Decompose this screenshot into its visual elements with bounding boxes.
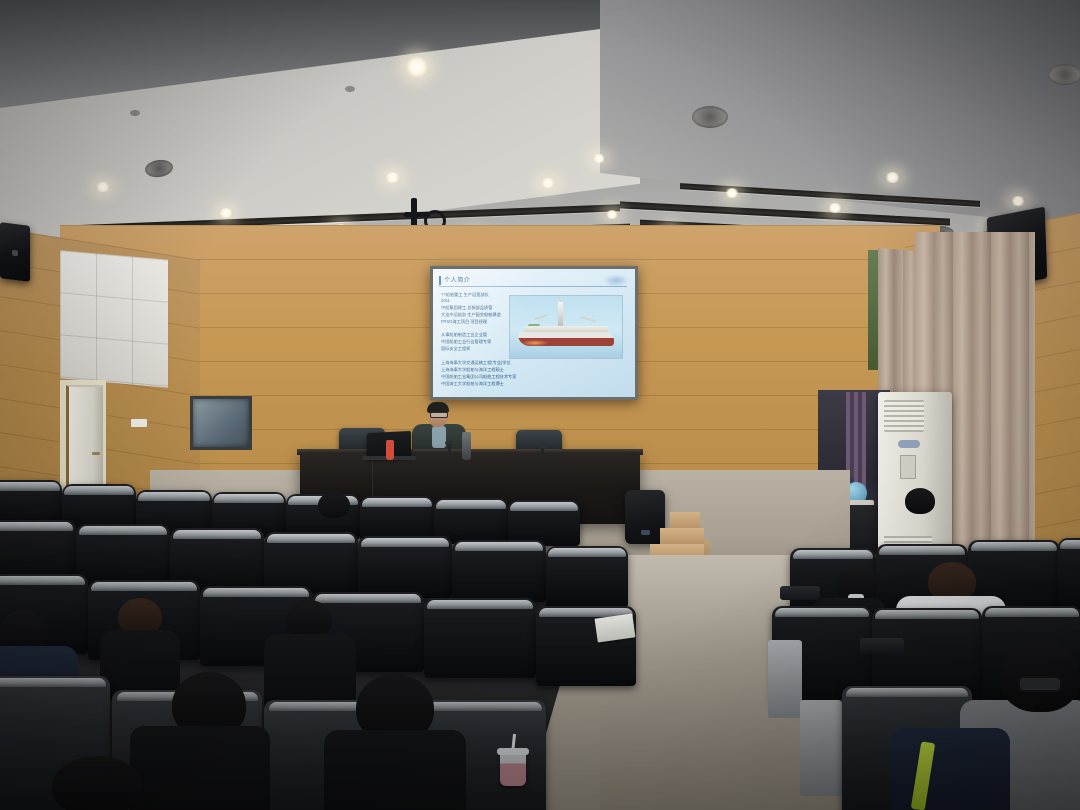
- slide-title-rule: [439, 286, 627, 287]
- eyeglasses-icon: [1018, 676, 1062, 692]
- auditorium-seat-right[interactable]: [1058, 538, 1080, 610]
- presenter-glasses-icon: [430, 412, 448, 418]
- cup-lid: [497, 748, 529, 755]
- slide-text-line: 大连中远船务 生产配交船舶建造: [441, 313, 501, 317]
- slide-text-line: 2011: [441, 299, 450, 303]
- ceiling-downlight: [540, 178, 556, 188]
- auditorium-seat[interactable]: [452, 540, 546, 602]
- lecture-hall-photo: 个人简介 ??船舶重工 生产运营部长 2011 中船集团建工 总装部品质管 大连…: [0, 0, 1080, 810]
- light-switch-plate[interactable]: [131, 419, 147, 427]
- slide-title-accent: [439, 276, 441, 285]
- wall-window: [190, 396, 252, 450]
- slide-text-line: FPSO海工项目 项目经理: [441, 320, 487, 324]
- ceiling-downlight: [592, 154, 606, 163]
- auditorium-seat[interactable]: [358, 536, 452, 598]
- ceiling-downlight: [724, 188, 740, 198]
- audience-body-foreground: [324, 730, 466, 810]
- ship-crane-icon: [534, 314, 548, 320]
- auditorium-seat[interactable]: [76, 524, 170, 586]
- microphone-stand: [541, 448, 544, 460]
- ceiling-downlight: [827, 203, 843, 213]
- auditorium-seat[interactable]: [264, 532, 358, 594]
- slide-title: 个人简介: [444, 275, 470, 284]
- ceiling-downlight: [405, 55, 429, 79]
- slide-text-line: 中国船舶工业行业管理专家: [441, 340, 491, 344]
- slide-text-line: 国际安全工程师: [441, 347, 470, 351]
- auditorium-seat[interactable]: [424, 598, 536, 678]
- presenter-shirt: [432, 426, 446, 448]
- seat-side-panel: [768, 640, 802, 718]
- audience-head: [905, 488, 935, 514]
- slide-text-line: 从事船舶制造工业企业管: [441, 333, 487, 337]
- auditorium-seat[interactable]: [546, 546, 628, 608]
- slide-text-line: ??船舶重工 生产运营部长: [441, 293, 489, 297]
- slide-text-line: 中国海工大学船舶与海洋工程博士: [441, 382, 504, 386]
- ceiling-downlight: [95, 182, 111, 192]
- slide-text-line: 中国船舶工业集团公司船舶工程技术专家: [441, 375, 516, 379]
- auditorium-seat[interactable]: [0, 520, 76, 582]
- wall-speaker-left: [0, 222, 30, 282]
- slide-text-line: 上海海事大学交通运输工程(专业)学位: [441, 361, 511, 365]
- face-mask: [968, 596, 984, 608]
- organization-logo-icon: [603, 274, 629, 287]
- audience-jacket-foreground: [890, 728, 1010, 810]
- ceiling-downlight: [884, 172, 901, 183]
- seat-armrest[interactable]: [860, 638, 904, 654]
- audience-head: [318, 492, 350, 518]
- white-tile-column: [60, 250, 168, 387]
- projection-screen: 个人简介 ??船舶重工 生产运营部长 2011 中船集团建工 总装部品质管 大连…: [433, 269, 635, 397]
- ceiling-downlight: [130, 110, 140, 116]
- seat-side-panel: [800, 700, 842, 796]
- audience-head-foreground: [52, 756, 142, 810]
- stage-step: [660, 528, 704, 544]
- thermos-bottle: [462, 432, 471, 460]
- ceiling-downlight: [384, 172, 401, 183]
- ship-flare-glow: [522, 340, 548, 346]
- ac-control-panel[interactable]: [900, 455, 916, 479]
- stage-step: [670, 512, 700, 528]
- microphone-stand: [448, 444, 451, 460]
- audience-body-foreground: [130, 726, 270, 810]
- water-bottle: [386, 440, 394, 460]
- plastic-drink-cup: [500, 752, 526, 786]
- ceiling-downlight: [1010, 196, 1026, 206]
- projection-screen-frame: 个人简介 ??船舶重工 生产运营部长 2011 中船集团建工 总装部品质管 大连…: [430, 266, 638, 400]
- ceiling-downlight: [605, 210, 619, 219]
- ship-crane-icon: [580, 316, 596, 322]
- slide-text-line: 中船集团建工 总装部品质管: [441, 306, 492, 310]
- ceiling-downlight: [1048, 64, 1080, 85]
- ac-top-grille: [884, 400, 924, 432]
- speaker-driver-icon: [12, 250, 18, 257]
- seat-armrest[interactable]: [780, 586, 820, 600]
- ceiling-downlight: [218, 208, 234, 218]
- slide-text-line: 上海海事大学船舶与海洋工程硕士: [441, 368, 504, 372]
- door-handle-icon[interactable]: [92, 452, 100, 455]
- slide-photo-offshore-vessel: [509, 295, 623, 359]
- ceiling-downlight: [692, 106, 728, 128]
- ac-brand-logo: [898, 440, 920, 448]
- ceiling-downlight: [345, 86, 355, 92]
